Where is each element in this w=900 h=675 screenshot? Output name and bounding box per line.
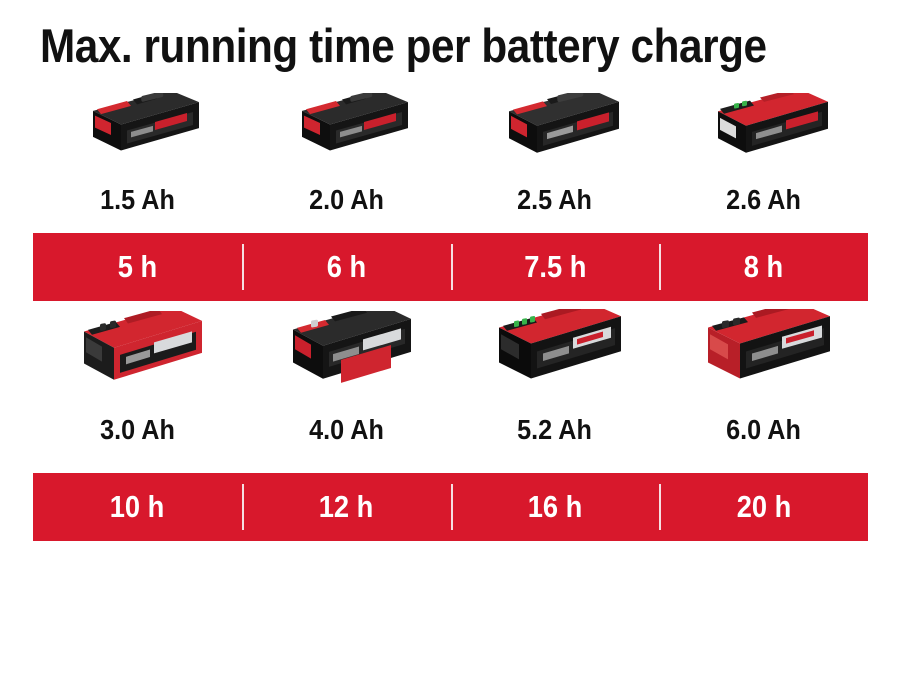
battery-capacity-label: 6.0 Ah xyxy=(726,415,801,445)
runtime-cell-6: 12 h xyxy=(242,473,451,541)
runtime-bar-row-1: 5 h 6 h 7.5 h 8 h xyxy=(33,233,868,301)
runtime-cell-1: 5 h xyxy=(33,233,242,301)
battery-capacity-label: 3.0 Ah xyxy=(100,415,175,445)
runtime-value: 16 h xyxy=(528,490,583,524)
runtime-value: 7.5 h xyxy=(524,250,586,284)
battery-capacity-label: 2.6 Ah xyxy=(726,185,801,215)
runtime-cell-5: 10 h xyxy=(33,473,242,541)
battery-capacity-label: 4.0 Ah xyxy=(309,415,384,445)
battery-row-2: 3.0 Ah xyxy=(33,325,868,445)
runtime-value: 5 h xyxy=(118,250,157,284)
runtime-cell-8: 20 h xyxy=(659,473,868,541)
runtime-value: 20 h xyxy=(736,490,791,524)
battery-capacity-label: 5.2 Ah xyxy=(518,415,593,445)
battery-item-2-0ah: 2.0 Ah xyxy=(242,95,451,215)
runtime-cell-2: 6 h xyxy=(242,233,451,301)
runtime-value: 8 h xyxy=(744,250,783,284)
battery-item-5-2ah: 5.2 Ah xyxy=(451,325,660,445)
battery-capacity-label: 2.0 Ah xyxy=(309,185,384,215)
runtime-bar-row-2: 10 h 12 h 16 h 20 h xyxy=(33,473,868,541)
battery-pack-icon xyxy=(485,93,625,180)
battery-item-4-0ah: 4.0 Ah xyxy=(242,325,451,445)
battery-capacity-label: 1.5 Ah xyxy=(100,185,175,215)
runtime-value: 12 h xyxy=(319,490,374,524)
battery-capacity-label: 2.5 Ah xyxy=(518,185,593,215)
battery-pack-icon xyxy=(686,309,841,410)
battery-item-2-6ah: 2.6 Ah xyxy=(659,95,868,215)
battery-item-6-0ah: 6.0 Ah xyxy=(659,325,868,445)
runtime-value: 10 h xyxy=(110,490,165,524)
battery-strip: 3.0 Ah xyxy=(33,325,868,445)
battery-item-1-5ah: 1.5 Ah xyxy=(33,95,242,215)
battery-item-3-0ah: 3.0 Ah xyxy=(33,325,242,445)
battery-pack-icon xyxy=(694,93,834,180)
battery-pack-icon xyxy=(271,311,421,410)
page-title: Max. running time per battery charge xyxy=(40,18,796,74)
runtime-cell-3: 7.5 h xyxy=(451,233,660,301)
runtime-cell-7: 16 h xyxy=(451,473,660,541)
battery-pack-icon xyxy=(477,309,632,410)
runtime-cell-4: 8 h xyxy=(659,233,868,301)
battery-strip: 1.5 Ah xyxy=(33,95,868,215)
battery-item-2-5ah: 2.5 Ah xyxy=(451,95,660,215)
battery-pack-icon xyxy=(276,93,416,180)
battery-pack-icon xyxy=(62,311,212,410)
runtime-value: 6 h xyxy=(326,250,365,284)
battery-row-1: 1.5 Ah xyxy=(33,95,868,215)
battery-pack-icon xyxy=(67,93,207,180)
